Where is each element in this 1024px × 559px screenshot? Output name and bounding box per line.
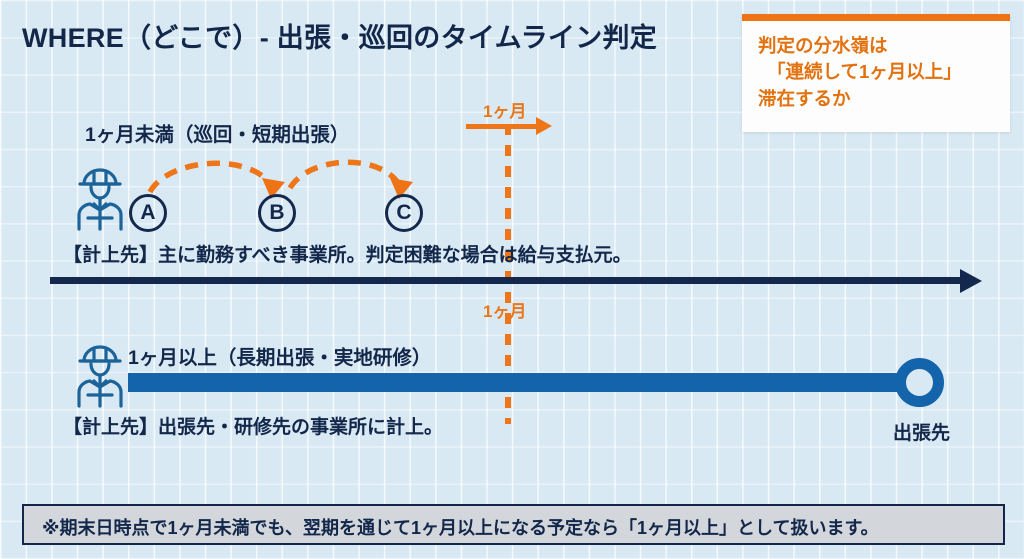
timeline-axis (50, 277, 965, 284)
destination-endpoint-marker (895, 358, 944, 407)
stop-node-c[interactable]: C (385, 194, 423, 232)
long-trip-note: 【計上先】出張先・研修先の事業所に計上。 (63, 412, 443, 439)
arc-b-to-c (290, 162, 400, 188)
long-trip-duration-bar (128, 373, 910, 392)
destination-label: 出張先 (893, 418, 950, 445)
slide-canvas: WHERE（どこで）- 出張・巡回のタイムライン判定 判定の分水嶺は 「連続して… (0, 0, 1024, 559)
arc-a-to-b (150, 163, 272, 192)
worker-icon (70, 163, 130, 233)
stop-node-b[interactable]: B (258, 194, 296, 232)
footer-note-text: ※期末日時点で1ヶ月未満でも、翌期を通じて1ヶ月以上になる予定なら「1ヶ月以上」… (42, 514, 879, 540)
footer-note-box: ※期末日時点で1ヶ月未満でも、翌期を通じて1ヶ月以上になる予定なら「1ヶ月以上」… (22, 504, 1005, 545)
timeline-axis-arrow-icon (960, 269, 982, 293)
long-trip-heading: 1ヶ月以上（長期出張・実地研修） (128, 341, 431, 370)
stop-node-a[interactable]: A (129, 194, 167, 232)
worker-icon (70, 340, 130, 410)
short-trip-note: 【計上先】主に勤務すべき事業所。判定困難な場合は給与支払元。 (63, 240, 632, 267)
